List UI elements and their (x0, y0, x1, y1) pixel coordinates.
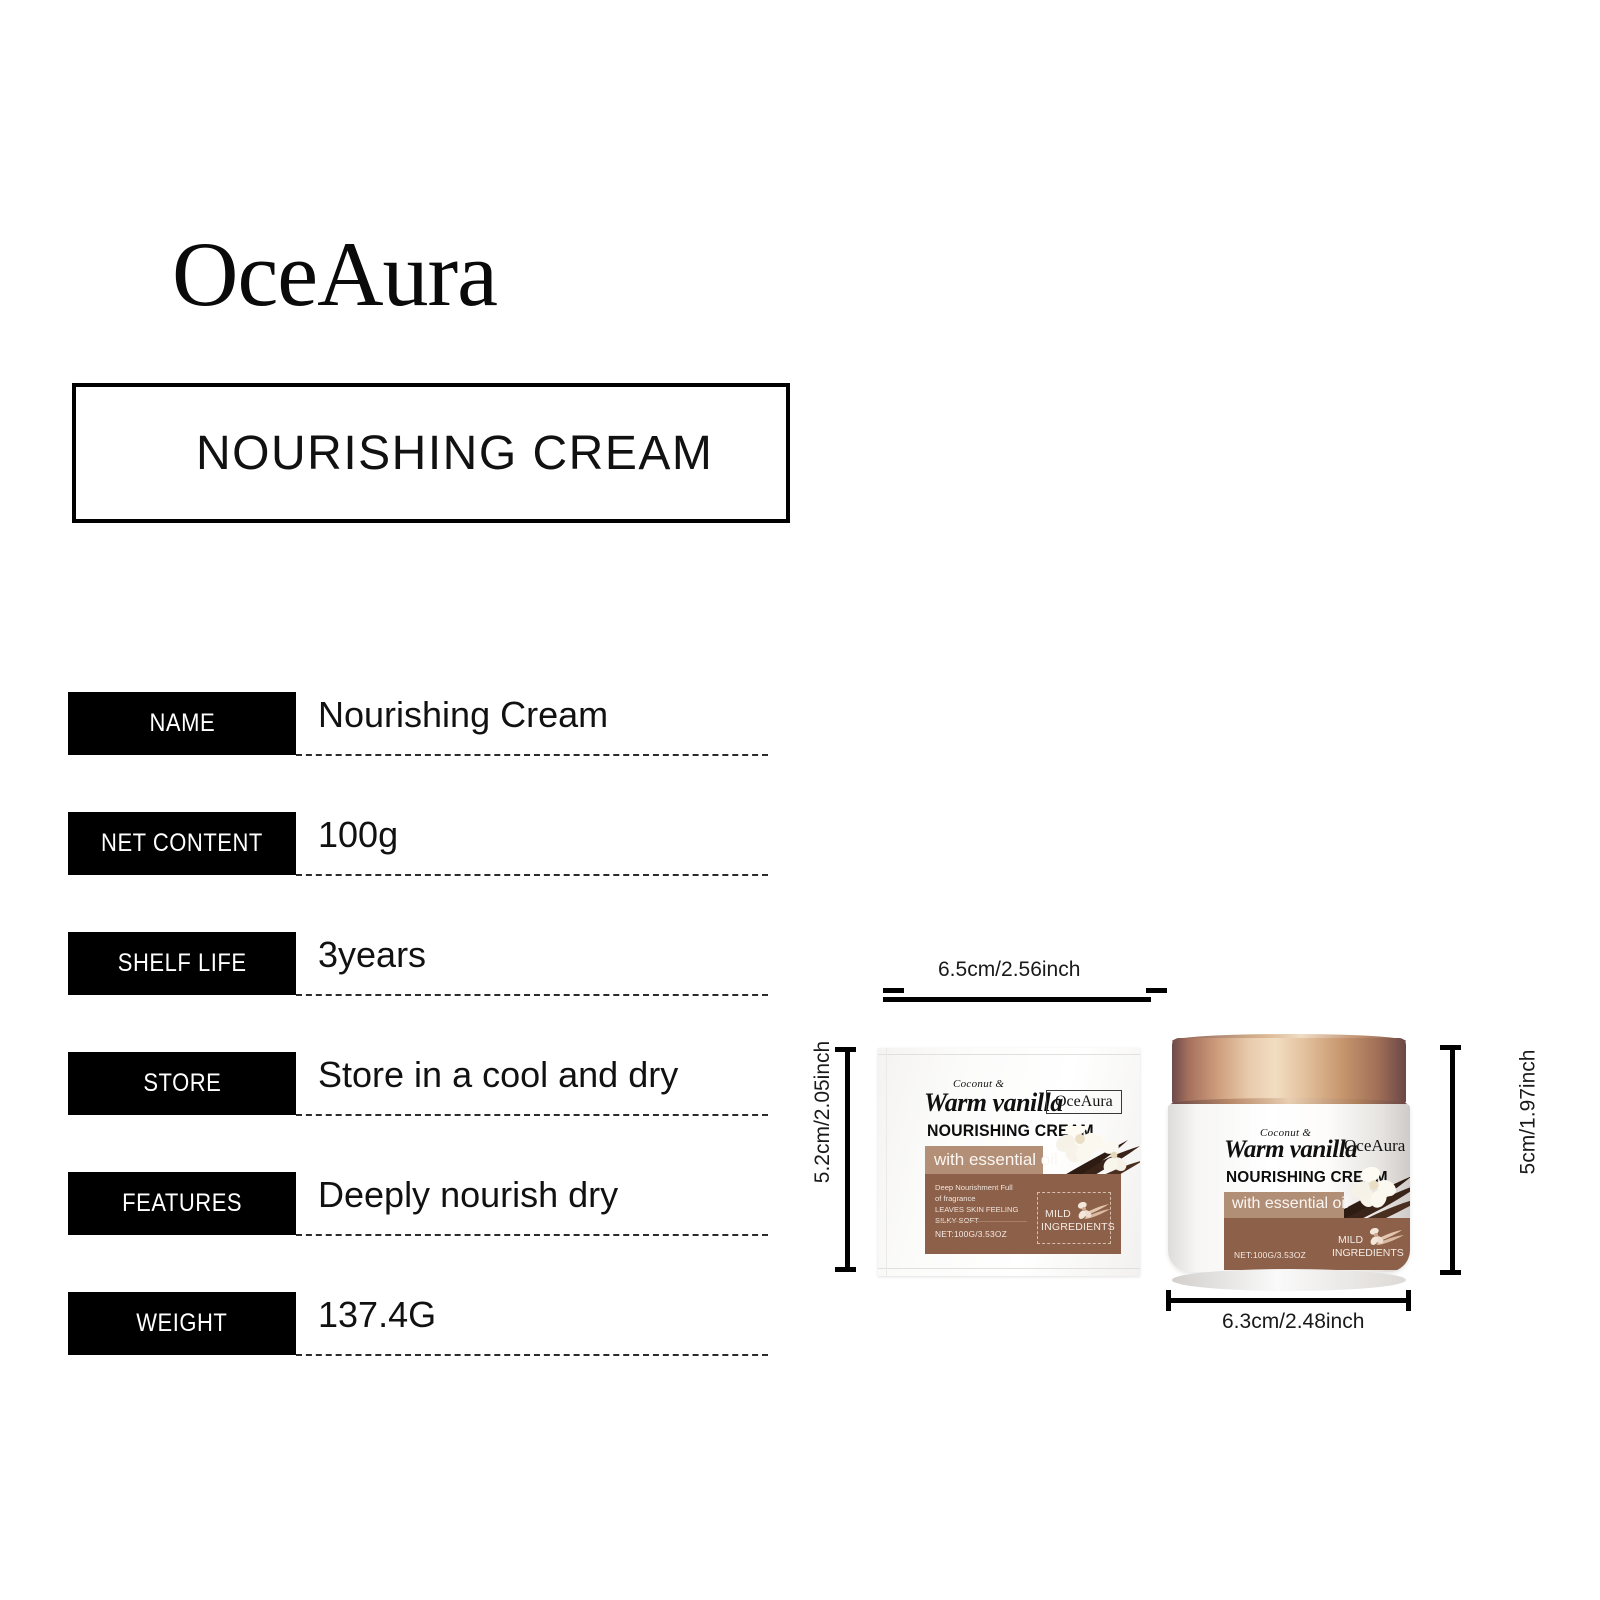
product-carton-image: Coconut & Warm vanilla NOURISHING CREAM … (878, 1048, 1140, 1276)
dimension-tick (1406, 1290, 1411, 1311)
brand-logo: OceAura (172, 228, 497, 320)
product-title-box: NOURISHING CREAM (72, 383, 790, 523)
dimension-tick (835, 1267, 856, 1272)
spec-divider (296, 1354, 768, 1356)
spec-label-text: SHELF LIFE (118, 949, 247, 978)
spec-label-features: FEATURES (68, 1172, 296, 1235)
spec-label-text: NAME (149, 709, 215, 738)
table-row: FEATURES Deeply nourish dry (68, 1172, 768, 1292)
vanilla-badge-icon (1074, 1202, 1110, 1220)
jar-brand-logo: OceAura (1344, 1136, 1405, 1156)
spec-value-features: Deeply nourish dry (318, 1174, 618, 1216)
carton-info-panel: Deep Nourishment Full of fragrance LEAVE… (925, 1174, 1121, 1254)
spec-label-text: FEATURES (122, 1189, 242, 1218)
dimension-label-jar-width: 6.3cm/2.48inch (1222, 1310, 1364, 1334)
jar-body: Coconut & Warm vanilla NOURISHING CREAM … (1168, 1104, 1410, 1272)
mild-ingredients-badge: MILD INGREDIENTS (1332, 1226, 1408, 1266)
spec-label-shelf-life: SHELF LIFE (68, 932, 296, 995)
spec-value-name: Nourishing Cream (318, 694, 608, 736)
carton-net-weight: NET:100G/3.53OZ (935, 1229, 1007, 1239)
carton-brand-logo: OceAura (1046, 1090, 1122, 1114)
carton-edge (878, 1054, 1140, 1055)
spec-value-net-content: 100g (318, 814, 398, 856)
spec-label-net-content: NET CONTENT (68, 812, 296, 875)
jar-product-name: NOURISHING CREAM (1226, 1169, 1388, 1187)
spec-label-store: STORE (68, 1052, 296, 1115)
carton-description: Deep Nourishment Full of fragrance LEAVE… (935, 1182, 1018, 1226)
carton-band-text: with essential oil (934, 1150, 1058, 1170)
product-dimension-figure: 6.5cm/2.56inch 5.2cm/2.05inch 5cm/1.97in… (790, 950, 1550, 1360)
jar-band: with essential oil (1224, 1192, 1344, 1218)
spec-table: NAME Nourishing Cream NET CONTENT 100g S… (68, 692, 768, 1412)
carton-edge (886, 1048, 887, 1276)
spec-divider (296, 754, 768, 756)
dimension-tick (1166, 1290, 1171, 1311)
carton-band: with essential oil (925, 1146, 1043, 1174)
jar-base (1172, 1269, 1406, 1291)
dimension-tick (883, 988, 904, 993)
table-row: SHELF LIFE 3years (68, 932, 768, 1052)
vanilla-badge-icon (1366, 1228, 1404, 1246)
dimension-line-jar-height (1450, 1045, 1455, 1275)
jar-net-weight: NET:100G/3.53OZ (1234, 1250, 1306, 1260)
badge-line-2: INGREDIENTS (1041, 1221, 1115, 1233)
dimension-tick (835, 1047, 856, 1052)
dimension-label-carton-width: 6.5cm/2.56inch (938, 958, 1080, 982)
dimension-tick (1440, 1270, 1461, 1275)
spec-label-name: NAME (68, 692, 296, 755)
carton-scent-text: Warm vanilla (924, 1088, 1063, 1118)
spec-label-text: WEIGHT (136, 1309, 227, 1338)
dimension-tick (1146, 988, 1167, 993)
jar-lid (1172, 1038, 1406, 1104)
product-jar-image: Coconut & Warm vanilla NOURISHING CREAM … (1160, 1038, 1418, 1283)
spec-label-text: NET CONTENT (101, 829, 263, 858)
dimension-line-jar-width (1166, 1298, 1411, 1303)
spec-value-weight: 137.4G (318, 1294, 436, 1336)
dimension-line-carton-width (883, 997, 1151, 1002)
dimension-line-carton-height (845, 1047, 850, 1272)
table-row: NET CONTENT 100g (68, 812, 768, 932)
page-title: NOURISHING CREAM (76, 426, 713, 481)
carton-panel-divider (935, 1221, 1027, 1222)
jar-band-text: with essential oil (1232, 1195, 1349, 1213)
spec-divider (296, 874, 768, 876)
mild-ingredients-badge: MILD INGREDIENTS (1037, 1192, 1111, 1244)
carton-product-name: NOURISHING CREAM (927, 1122, 1094, 1141)
spec-value-shelf-life: 3years (318, 934, 426, 976)
carton-edge (878, 1268, 1140, 1269)
spec-label-weight: WEIGHT (68, 1292, 296, 1355)
spec-label-text: STORE (143, 1069, 221, 1098)
badge-line-1: MILD (1338, 1234, 1363, 1246)
jar-info-panel: NET:100G/3.53OZ MILD INGREDIENTS (1224, 1218, 1410, 1270)
spec-divider (296, 1234, 768, 1236)
dimension-tick (1440, 1045, 1461, 1050)
table-row: WEIGHT 137.4G (68, 1292, 768, 1412)
spec-value-store: Store in a cool and dry (318, 1054, 678, 1096)
spec-divider (296, 994, 768, 996)
table-row: STORE Store in a cool and dry (68, 1052, 768, 1172)
badge-line-1: MILD (1045, 1208, 1071, 1220)
dimension-label-jar-height: 5cm/1.97inch (1516, 1050, 1540, 1175)
dimension-label-carton-height: 5.2cm/2.05inch (811, 1041, 835, 1183)
spec-divider (296, 1114, 768, 1116)
badge-line-2: INGREDIENTS (1332, 1247, 1404, 1259)
table-row: NAME Nourishing Cream (68, 692, 768, 812)
jar-scent-text: Warm vanilla (1224, 1136, 1357, 1164)
